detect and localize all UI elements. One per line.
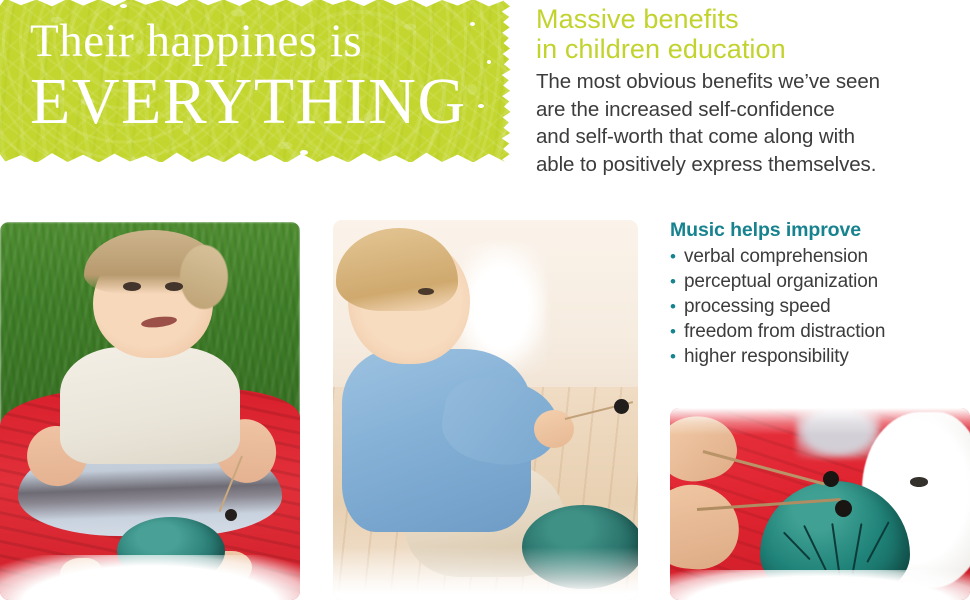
list-item-label: perceptual organization bbox=[684, 269, 878, 294]
bullet-dot-icon: • bbox=[670, 344, 684, 369]
white-foreground-fade bbox=[670, 570, 970, 600]
bullet-dot-icon: • bbox=[670, 319, 684, 344]
header-text-block: Massive benefits in children education T… bbox=[536, 4, 960, 178]
banner-headline-line-2: EVERYTHING bbox=[30, 69, 490, 135]
list-item-label: freedom from distraction bbox=[684, 319, 885, 344]
list-item: • processing speed bbox=[670, 294, 970, 319]
photo-3-scene bbox=[670, 408, 970, 600]
photo-2-scene bbox=[333, 220, 638, 600]
headline-line-1: Massive benefits bbox=[536, 4, 960, 34]
dog-eye bbox=[910, 477, 928, 487]
body-line-2: are the increased self-confidence bbox=[536, 96, 960, 124]
drum-mallet-head bbox=[614, 399, 629, 414]
white-foreground-fade bbox=[0, 555, 300, 600]
child-hair-side bbox=[180, 245, 228, 309]
banner-speck bbox=[120, 4, 127, 8]
banner-speck bbox=[300, 150, 308, 155]
list-item: • perceptual organization bbox=[670, 269, 970, 294]
green-headline-banner: Their happines is EVERYTHING bbox=[0, 0, 512, 162]
banner-headline-line-1: Their happines is bbox=[30, 18, 490, 65]
header-body-copy: The most obvious benefits we’ve seen are… bbox=[536, 68, 960, 178]
list-item: • higher responsibility bbox=[670, 344, 970, 369]
photo-hands-drum-dog bbox=[670, 408, 970, 600]
headline-line-2: in children education bbox=[536, 34, 960, 64]
photo-1-scene bbox=[0, 222, 300, 600]
bullet-dot-icon: • bbox=[670, 269, 684, 294]
body-line-4: able to positively express themselves. bbox=[536, 151, 960, 179]
benefits-list-title: Music helps improve bbox=[670, 218, 970, 242]
toddler-hand bbox=[534, 410, 574, 448]
body-line-1: The most obvious benefits we’ve seen bbox=[536, 68, 960, 96]
list-item: • verbal comprehension bbox=[670, 244, 970, 269]
benefits-list-block: Music helps improve • verbal comprehensi… bbox=[670, 218, 970, 369]
bullet-dot-icon: • bbox=[670, 294, 684, 319]
list-item-label: verbal comprehension bbox=[684, 244, 868, 269]
list-item-label: processing speed bbox=[684, 294, 831, 319]
banner-headline: Their happines is EVERYTHING bbox=[30, 18, 490, 135]
list-item: • freedom from distraction bbox=[670, 319, 970, 344]
white-top-fade bbox=[670, 408, 970, 435]
child-shirt bbox=[60, 347, 240, 464]
infographic-banner: Their happines is EVERYTHING Massive ben… bbox=[0, 0, 970, 600]
photo-child-outdoors-with-drum bbox=[0, 222, 300, 600]
photo-toddler-indoors-with-drum bbox=[333, 220, 638, 600]
bullet-dot-icon: • bbox=[670, 244, 684, 269]
list-item-label: higher responsibility bbox=[684, 344, 849, 369]
white-foreground-fade bbox=[333, 547, 638, 600]
body-line-3: and self-worth that come along with bbox=[536, 123, 960, 151]
